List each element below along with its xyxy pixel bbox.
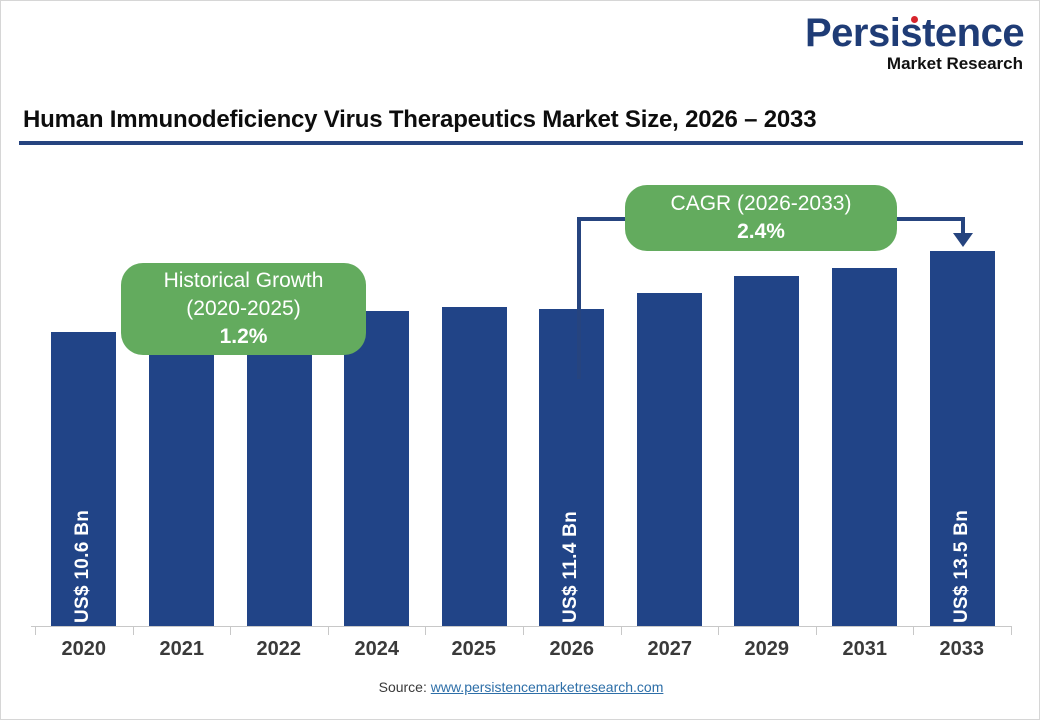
bar-2022 bbox=[247, 318, 312, 626]
chart-page: Persistence Market Research Human Immuno… bbox=[0, 0, 1040, 720]
historical-growth-line2: (2020-2025) bbox=[186, 295, 300, 323]
x-axis-tick-2020 bbox=[35, 626, 36, 635]
bar-2021 bbox=[149, 322, 214, 626]
x-axis-label-2029: 2029 bbox=[718, 638, 816, 661]
x-axis-line bbox=[31, 626, 1011, 627]
bar-2031 bbox=[832, 268, 897, 626]
bar-value-label-2026: US$ 11.4 Bn bbox=[560, 511, 582, 623]
x-axis-tick-2026 bbox=[523, 626, 524, 635]
x-axis-label-2027: 2027 bbox=[621, 638, 719, 661]
source-note: Source: www.persistencemarketresearch.co… bbox=[1, 679, 1040, 695]
x-axis-tick-2022 bbox=[230, 626, 231, 635]
bar-2027 bbox=[637, 293, 702, 626]
x-axis-label-2020: 2020 bbox=[35, 638, 133, 661]
bar-value-label-2033: US$ 13.5 Bn bbox=[951, 510, 973, 623]
x-axis-tick-2027 bbox=[621, 626, 622, 635]
bar-2029 bbox=[734, 276, 799, 626]
cagr-connector-vertical-left bbox=[577, 217, 581, 379]
historical-growth-value: 1.2% bbox=[220, 323, 268, 351]
source-prefix-label: Source: bbox=[379, 679, 431, 695]
x-axis-label-2033: 2033 bbox=[913, 638, 1011, 661]
historical-growth-callout: Historical Growth (2020-2025) 1.2% bbox=[121, 263, 366, 355]
bar-2024 bbox=[344, 311, 409, 626]
cagr-line1: CAGR (2026-2033) bbox=[671, 190, 852, 218]
chart-plot-area: US$ 10.6 BnUS$ 11.4 BnUS$ 13.5 Bn 202020… bbox=[1, 1, 1040, 720]
x-axis-label-2025: 2025 bbox=[425, 638, 523, 661]
x-axis-label-2021: 2021 bbox=[133, 638, 231, 661]
x-axis-tick-end bbox=[1011, 626, 1012, 635]
x-axis-label-2022: 2022 bbox=[230, 638, 328, 661]
x-axis-label-2031: 2031 bbox=[816, 638, 914, 661]
historical-growth-line1: Historical Growth bbox=[164, 267, 324, 295]
x-axis-tick-2031 bbox=[816, 626, 817, 635]
x-axis-tick-2021 bbox=[133, 626, 134, 635]
cagr-value: 2.4% bbox=[737, 218, 785, 246]
x-axis-tick-2033 bbox=[913, 626, 914, 635]
cagr-callout: CAGR (2026-2033) 2.4% bbox=[625, 185, 897, 251]
source-url-link[interactable]: www.persistencemarketresearch.com bbox=[431, 679, 664, 695]
x-axis-label-2024: 2024 bbox=[328, 638, 426, 661]
x-axis-tick-2024 bbox=[328, 626, 329, 635]
x-axis-label-2026: 2026 bbox=[523, 638, 621, 661]
x-axis-tick-2025 bbox=[425, 626, 426, 635]
cagr-connector-arrow-icon bbox=[953, 233, 973, 247]
bar-2025 bbox=[442, 307, 507, 626]
x-axis-tick-2029 bbox=[718, 626, 719, 635]
bar-value-label-2020: US$ 10.6 Bn bbox=[72, 510, 94, 623]
